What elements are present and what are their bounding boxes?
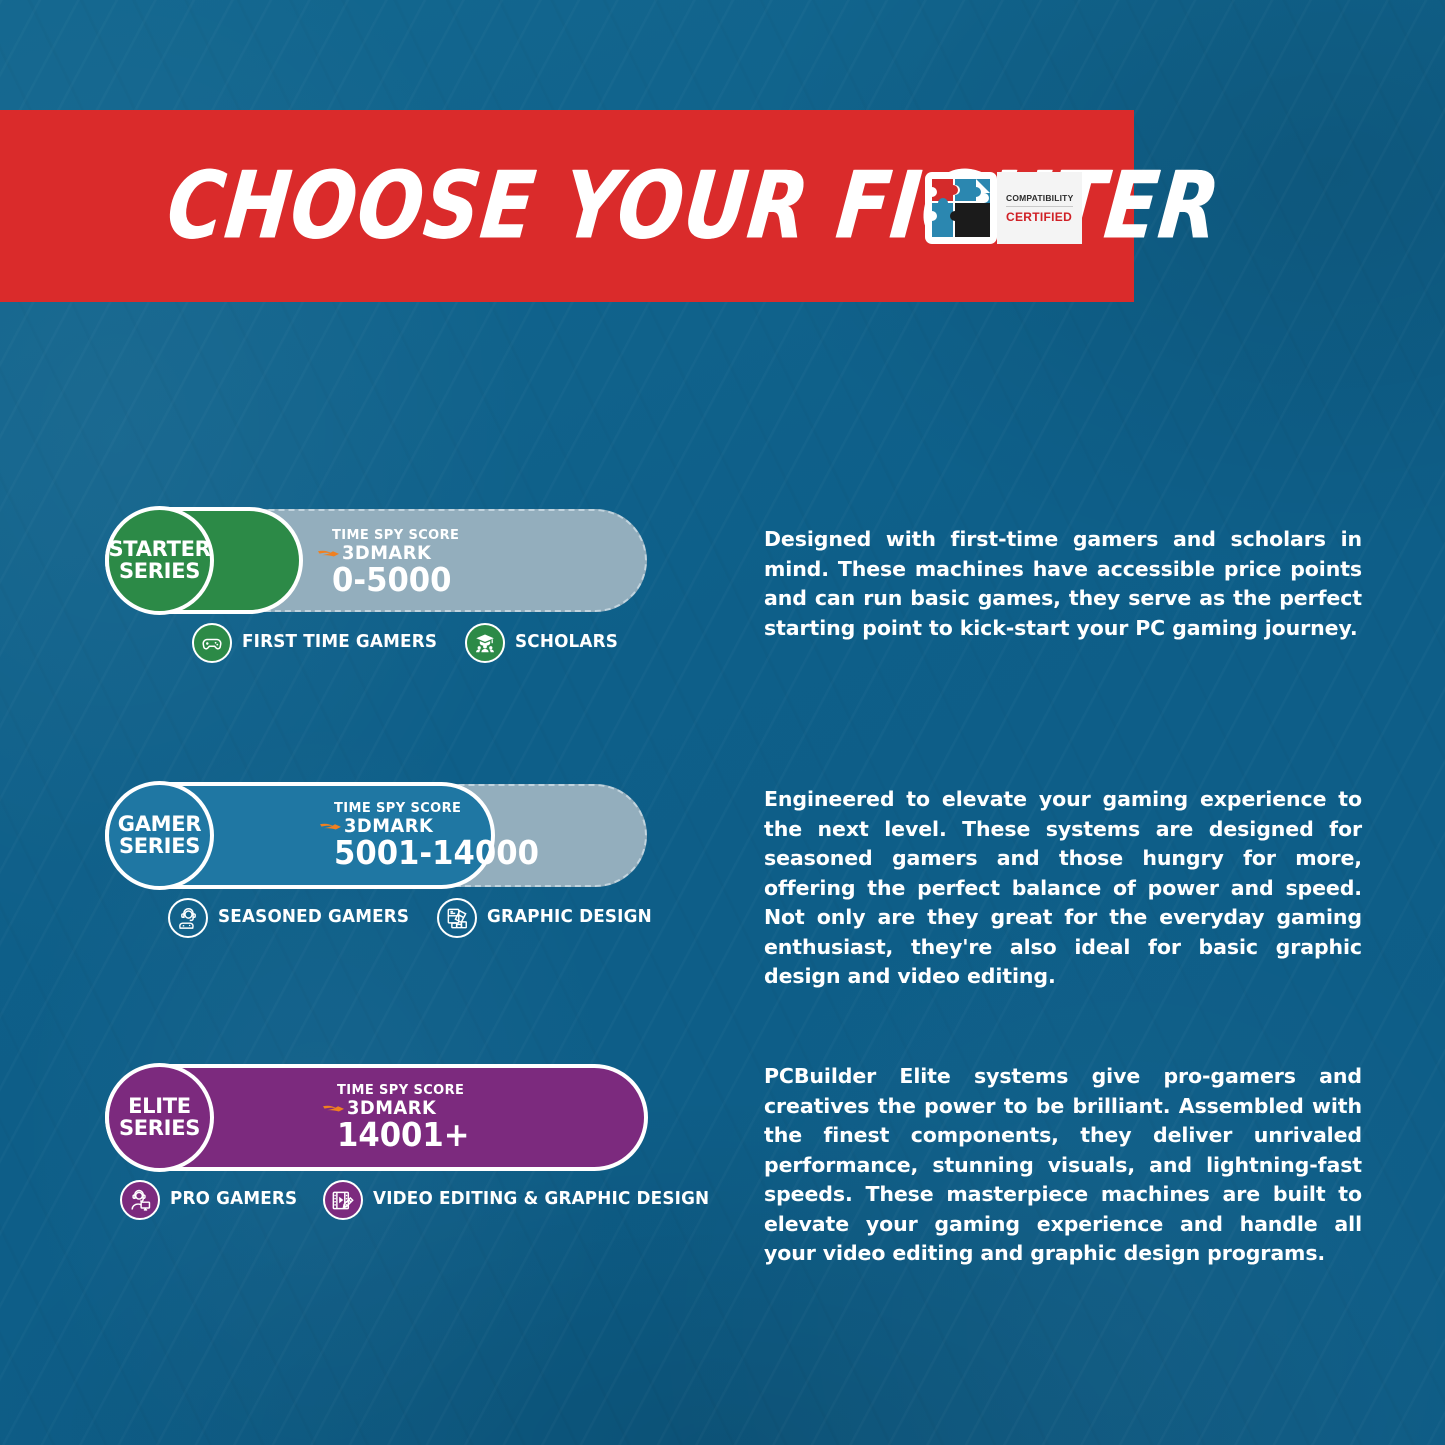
badge-compatibility-label: COMPATIBILITY	[1006, 193, 1073, 203]
tier-name-line1: GAMER	[118, 814, 201, 835]
score-block-elite: TIME SPY SCORE 3DMARK 14001+	[323, 1084, 479, 1153]
tier-name-line1: ELITE	[128, 1096, 191, 1117]
audience-chip-graphic-design[interactable]: GRAPHIC DESIGN	[437, 898, 659, 938]
score-block-starter: TIME SPY SCORE 3DMARK 0-5000	[318, 529, 461, 598]
tier-name-line2: SERIES	[119, 561, 200, 582]
audience-label: GRAPHIC DESIGN	[487, 909, 652, 927]
tier-badge-starter[interactable]: STARTER SERIES	[105, 506, 214, 615]
infographic-page: CHOOSE YOUR FIGHTER COMPATIBILITY CERTIF…	[0, 0, 1445, 1445]
certified-text-block: COMPATIBILITY CERTIFIED	[997, 172, 1082, 244]
headset-gamer-icon	[168, 898, 208, 938]
score-value-starter: 0-5000	[332, 563, 452, 598]
tier-description-starter: Designed with first-time gamers and scho…	[764, 525, 1362, 643]
3dmark-arrow-icon	[320, 820, 342, 834]
tier-description-gamer: Engineered to elevate your gaming experi…	[764, 785, 1362, 992]
gamepad-icon	[192, 623, 232, 663]
audience-label: VIDEO EDITING & GRAPHIC DESIGN	[373, 1191, 709, 1209]
audience-label: FIRST TIME GAMERS	[242, 634, 437, 652]
tier-name-line2: SERIES	[119, 1118, 200, 1139]
score-block-gamer: TIME SPY SCORE 3DMARK 5001-14000	[320, 802, 554, 871]
audience-row-starter: FIRST TIME GAMERS SCH	[192, 623, 623, 663]
audience-label: PRO GAMERS	[170, 1191, 297, 1209]
graduation-students-icon	[465, 623, 505, 663]
audience-row-gamer: SEASONED GAMERS GRAPHIC DESIGN	[168, 898, 659, 938]
badge-certified-label: CERTIFIED	[1006, 210, 1073, 224]
audience-chip-scholars[interactable]: SCHOLARS	[465, 623, 622, 663]
tier-description-elite: PCBuilder Elite systems give pro-gamers …	[764, 1062, 1362, 1269]
audience-chip-pro-gamers[interactable]: PRO GAMERS	[120, 1180, 303, 1220]
3dmark-arrow-icon	[323, 1102, 345, 1116]
audience-label: SEASONED GAMERS	[218, 909, 409, 927]
tier-name-line2: SERIES	[119, 836, 200, 857]
time-spy-score-label: TIME SPY SCORE	[334, 802, 554, 815]
film-strip-pencil-icon	[323, 1180, 363, 1220]
audience-label: SCHOLARS	[515, 634, 618, 652]
time-spy-score-label: TIME SPY SCORE	[337, 1084, 479, 1097]
audience-chip-video-editing-graphic-design[interactable]: VIDEO EDITING & GRAPHIC DESIGN	[323, 1180, 723, 1220]
time-spy-score-label: TIME SPY SCORE	[332, 529, 461, 542]
tier-badge-gamer[interactable]: GAMER SERIES	[105, 781, 214, 890]
audience-chip-seasoned-gamers[interactable]: SEASONED GAMERS	[168, 898, 417, 938]
badge-divider	[1006, 206, 1073, 207]
score-value-elite: 14001+	[337, 1118, 469, 1153]
score-value-gamer: 5001-14000	[334, 836, 539, 871]
tier-badge-elite[interactable]: ELITE SERIES	[105, 1063, 214, 1172]
audience-chip-first-time-gamers[interactable]: FIRST TIME GAMERS	[192, 623, 445, 663]
audience-row-elite: PRO GAMERS VIDEO EDITING & GRAPHIC DESIG…	[120, 1180, 723, 1220]
pro-gamer-monitor-icon	[120, 1180, 160, 1220]
3dmark-arrow-icon	[318, 547, 340, 561]
puzzle-pieces-icon	[925, 172, 997, 244]
compatibility-certified-badge: COMPATIBILITY CERTIFIED	[925, 172, 1082, 244]
color-palette-icon	[437, 898, 477, 938]
tier-name-line1: STARTER	[108, 539, 210, 560]
